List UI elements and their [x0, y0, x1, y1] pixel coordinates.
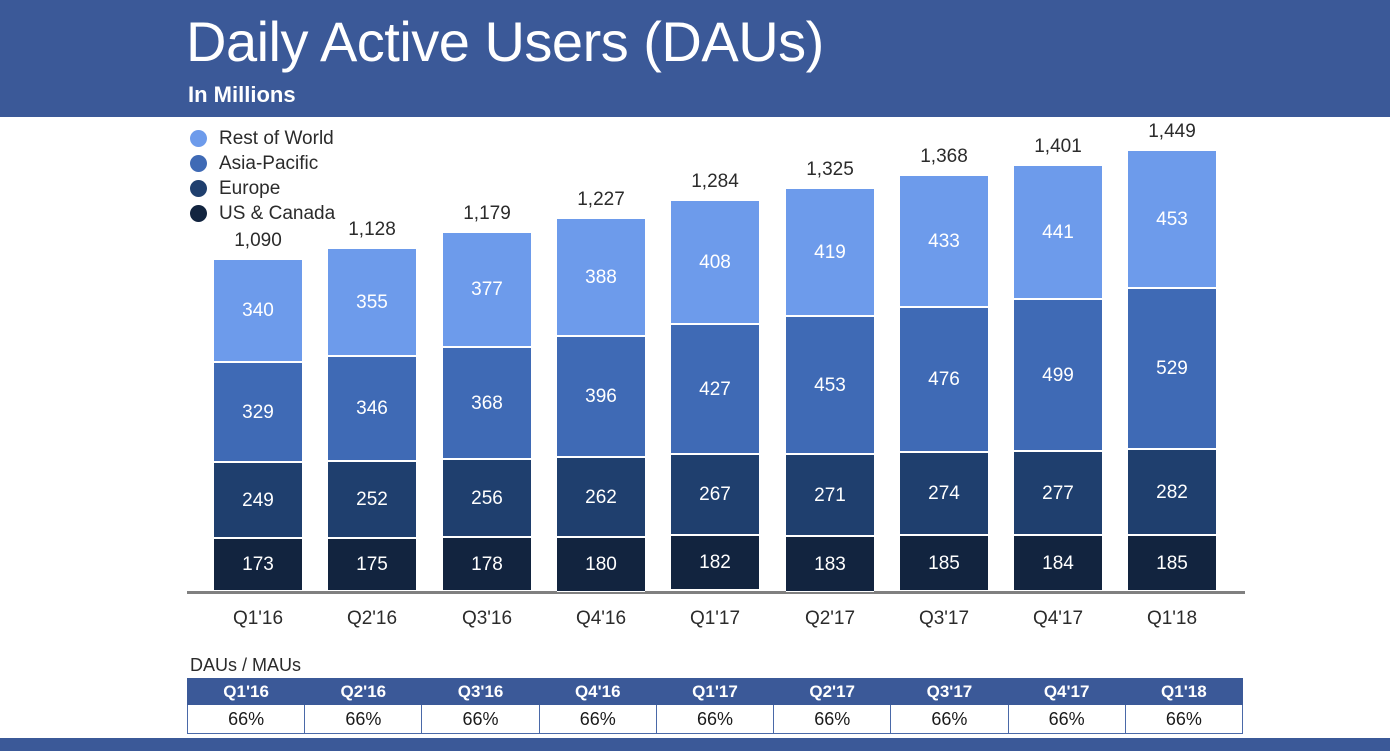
bar-segment[interactable]: 408 [671, 200, 759, 324]
bar-segment[interactable]: 182 [671, 535, 759, 590]
bar-segment-label: 274 [928, 484, 960, 503]
bar-stack[interactable]: 441499277184 [1014, 165, 1102, 591]
bar-segment[interactable]: 277 [1014, 451, 1102, 535]
bar-stack[interactable]: 388396262180 [557, 218, 645, 591]
x-axis-tick-label: Q2'17 [775, 608, 885, 630]
bar-segment[interactable]: 267 [671, 454, 759, 535]
bar-segment[interactable]: 183 [786, 536, 874, 592]
bar-segment-label: 184 [1042, 554, 1074, 573]
bar-segment-label: 282 [1156, 483, 1188, 502]
bar-segment[interactable]: 249 [214, 462, 302, 538]
bar-segment[interactable]: 178 [443, 537, 531, 591]
bar-total-label: 1,179 [432, 203, 542, 225]
ratio-table-header-cell: Q1'16 [188, 679, 305, 705]
bar-total-label: 1,325 [775, 159, 885, 181]
bar-segment-label: 433 [928, 232, 960, 251]
bar-segment[interactable]: 388 [557, 218, 645, 336]
bar-segment[interactable]: 529 [1128, 288, 1216, 449]
bar-segment[interactable]: 175 [328, 538, 416, 591]
bar-segment[interactable]: 262 [557, 457, 645, 537]
bar-segment-label: 271 [814, 486, 846, 505]
ratio-table-value-cell: 66% [188, 705, 305, 734]
bar-segment[interactable]: 355 [328, 248, 416, 356]
ratio-table-value-cell: 66% [891, 705, 1008, 734]
x-axis-tick-label: Q3'16 [432, 608, 542, 630]
ratio-table-header-cell: Q2'17 [774, 679, 891, 705]
bar-segment-label: 185 [1156, 554, 1188, 573]
bar-segment[interactable]: 419 [786, 188, 874, 316]
bar-segment-label: 427 [699, 380, 731, 399]
bar-segment-label: 185 [928, 554, 960, 573]
ratio-table-value-cell: 66% [422, 705, 539, 734]
bar-segment[interactable]: 433 [900, 175, 988, 307]
bar-segment-label: 277 [1042, 484, 1074, 503]
slide-root: Daily Active Users (DAUs) In Millions Re… [0, 0, 1390, 751]
footer-band [0, 738, 1390, 751]
bar-segment-label: 178 [471, 555, 503, 574]
x-axis-tick-label: Q1'17 [660, 608, 770, 630]
bar-segment-label: 377 [471, 280, 503, 299]
bar-segment-label: 182 [699, 553, 731, 572]
bar-segment[interactable]: 340 [214, 259, 302, 362]
x-axis-tick-label: Q3'17 [889, 608, 999, 630]
ratio-table-value-cell: 66% [539, 705, 656, 734]
bar-segment[interactable]: 377 [443, 232, 531, 347]
ratio-table-header-cell: Q4'17 [1008, 679, 1125, 705]
bar-segment[interactable]: 271 [786, 454, 874, 536]
ratio-table-header-cell: Q1'18 [1125, 679, 1242, 705]
bar-segment[interactable]: 476 [900, 307, 988, 452]
stacked-bar-chart: 3403292491731,090Q1'163553462521751,128Q… [0, 0, 1390, 640]
ratio-table-value-cell: 66% [305, 705, 422, 734]
bar-total-label: 1,090 [203, 230, 313, 252]
bar-segment-label: 453 [1156, 210, 1188, 229]
bar-stack[interactable]: 355346252175 [328, 248, 416, 591]
bar-total-label: 1,449 [1117, 121, 1227, 143]
bar-segment-label: 476 [928, 370, 960, 389]
bar-stack[interactable]: 377368256178 [443, 232, 531, 591]
bar-segment[interactable]: 282 [1128, 449, 1216, 535]
bar-segment[interactable]: 396 [557, 336, 645, 457]
bar-segment[interactable]: 453 [1128, 150, 1216, 288]
x-axis-tick-label: Q1'16 [203, 608, 313, 630]
ratio-table-value-cell: 66% [774, 705, 891, 734]
bar-segment[interactable]: 441 [1014, 165, 1102, 299]
x-axis-tick-label: Q4'16 [546, 608, 656, 630]
bar-segment-label: 499 [1042, 366, 1074, 385]
ratio-table-value-row: 66%66%66%66%66%66%66%66%66% [188, 705, 1243, 734]
bar-segment-label: 173 [242, 555, 274, 574]
ratio-table-value-cell: 66% [656, 705, 773, 734]
bar-segment[interactable]: 499 [1014, 299, 1102, 451]
bar-segment[interactable]: 329 [214, 362, 302, 462]
ratio-table-header-cell: Q3'17 [891, 679, 1008, 705]
bar-segment-label: 453 [814, 376, 846, 395]
ratio-table-value-cell: 66% [1008, 705, 1125, 734]
dau-mau-ratio-table: Q1'16Q2'16Q3'16Q4'16Q1'17Q2'17Q3'17Q4'17… [187, 678, 1243, 734]
bar-segment-label: 262 [585, 488, 617, 507]
bar-segment-label: 388 [585, 268, 617, 287]
bar-segment[interactable]: 274 [900, 452, 988, 535]
ratio-table-caption: DAUs / MAUs [190, 654, 301, 676]
ratio-table-header-cell: Q4'16 [539, 679, 656, 705]
x-axis-tick-label: Q4'17 [1003, 608, 1113, 630]
bar-segment[interactable]: 368 [443, 347, 531, 459]
bar-segment[interactable]: 184 [1014, 535, 1102, 591]
x-axis-tick-label: Q1'18 [1117, 608, 1227, 630]
bar-segment-label: 329 [242, 403, 274, 422]
bar-stack[interactable]: 340329249173 [214, 259, 302, 591]
bar-stack[interactable]: 453529282185 [1128, 150, 1216, 591]
bar-segment-label: 180 [585, 555, 617, 574]
bar-segment-label: 368 [471, 394, 503, 413]
ratio-table-header-cell: Q3'16 [422, 679, 539, 705]
ratio-table-header-row: Q1'16Q2'16Q3'16Q4'16Q1'17Q2'17Q3'17Q4'17… [188, 679, 1243, 705]
ratio-table-header-cell: Q2'16 [305, 679, 422, 705]
bar-stack[interactable]: 419453271183 [786, 188, 874, 591]
bar-segment-label: 340 [242, 301, 274, 320]
bar-segment[interactable]: 173 [214, 538, 302, 591]
ratio-table-header-cell: Q1'17 [656, 679, 773, 705]
bar-segment-label: 529 [1156, 359, 1188, 378]
bar-segment[interactable]: 185 [900, 535, 988, 591]
bar-segment-label: 441 [1042, 223, 1074, 242]
bar-total-label: 1,401 [1003, 136, 1113, 158]
bar-segment-label: 408 [699, 253, 731, 272]
bar-segment-label: 346 [356, 399, 388, 418]
bar-total-label: 1,284 [660, 171, 770, 193]
bar-segment-label: 249 [242, 491, 274, 510]
ratio-table-value-cell: 66% [1125, 705, 1242, 734]
bar-segment-label: 267 [699, 485, 731, 504]
bar-segment[interactable]: 453 [786, 316, 874, 454]
bar-segment-label: 183 [814, 555, 846, 574]
bar-segment-label: 256 [471, 489, 503, 508]
bar-segment-label: 419 [814, 243, 846, 262]
bar-segment[interactable]: 185 [1128, 535, 1216, 591]
bar-total-label: 1,227 [546, 189, 656, 211]
bar-total-label: 1,368 [889, 146, 999, 168]
bar-total-label: 1,128 [317, 219, 427, 241]
bar-segment-label: 396 [585, 387, 617, 406]
bar-stack[interactable]: 433476274185 [900, 175, 988, 591]
bar-segment-label: 252 [356, 490, 388, 509]
bar-stack[interactable]: 408427267182 [671, 200, 759, 591]
bar-segment-label: 175 [356, 555, 388, 574]
x-axis-line [187, 591, 1245, 594]
bar-segment[interactable]: 252 [328, 461, 416, 538]
x-axis-tick-label: Q2'16 [317, 608, 427, 630]
bar-segment[interactable]: 180 [557, 537, 645, 592]
bar-segment[interactable]: 427 [671, 324, 759, 454]
bar-segment-label: 355 [356, 293, 388, 312]
bar-segment[interactable]: 346 [328, 356, 416, 461]
bar-segment[interactable]: 256 [443, 459, 531, 537]
